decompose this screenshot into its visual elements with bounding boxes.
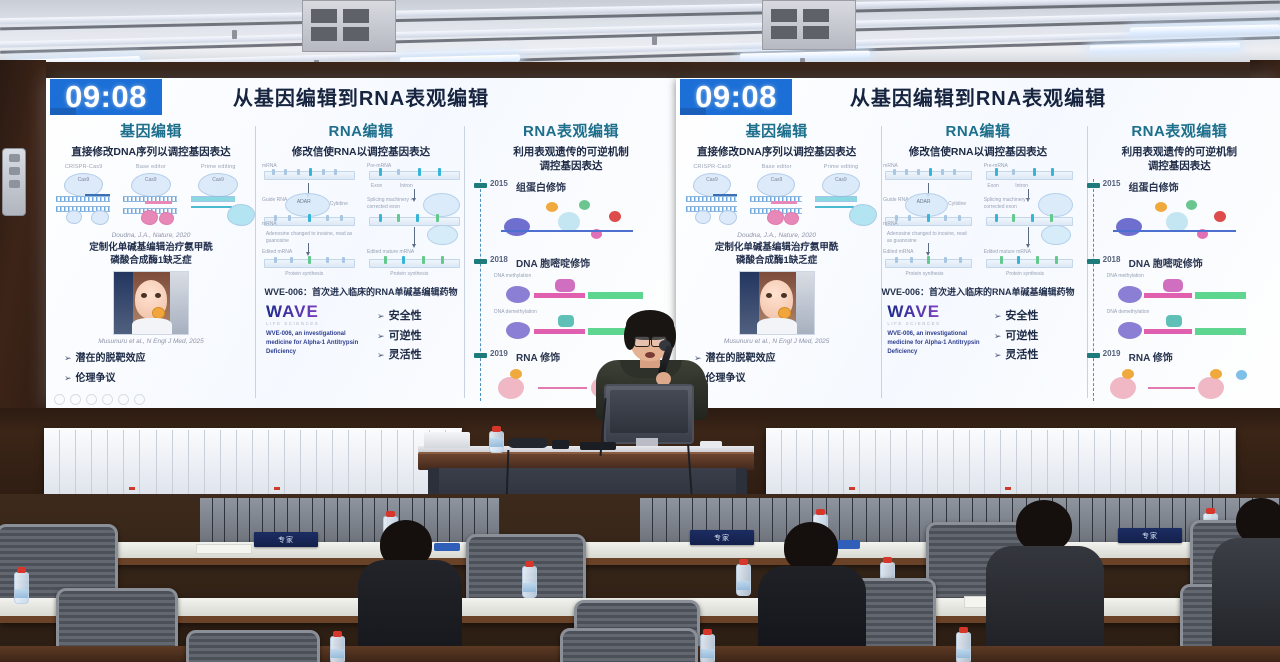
ceiling-light-strip [740, 51, 870, 61]
gene-editing-bullets-dup: 潜在的脱靶效应 伦理争议 [680, 345, 873, 389]
column-subtitle-line2: 调控基因表达 [1083, 159, 1276, 173]
sprinkler-head [232, 30, 237, 39]
diagram-crispr-cas9: CRISPR-Cas9 Cas9 [52, 164, 115, 230]
bullet-item: 可逆性 [377, 327, 422, 346]
bullet-item: 伦理争议 [694, 369, 873, 389]
diagram-base-editor: Base editor Cas9 [747, 164, 807, 230]
timeline-year: 2019 [1103, 349, 1121, 358]
case-text-line1: 定制化单碱基编辑治疗氨甲酰 [50, 242, 252, 255]
column-heading: 基因编辑 [50, 120, 252, 141]
timeline-label: DNA 胞嘧啶修饰 [1129, 255, 1203, 270]
wave-logo-block: WAVE LIFE SCIENCES WVE-006, an investiga… [260, 303, 462, 365]
slide-column-gene-editing-dup: 基因编辑 直接修改DNA序列以调控基因表达 CRISPR-Cas9 Cas9 B… [676, 120, 877, 408]
podium-remote [700, 441, 722, 448]
bullet-item: 潜在的脱靶效应 [64, 349, 252, 369]
column-subtitle-line1: 利用表观遗传的可逆机制 [1083, 145, 1276, 159]
wave-tagline: LIFE SCIENCES [887, 321, 988, 326]
diagram-exon-splicing: Pre-mRNA Exon Intron Splicing machinery … [982, 163, 1075, 281]
diagram-exon-splicing: Pre-mRNA Exon Intron Splicing machinery … [365, 163, 462, 281]
timeline-sublabel: DNA methylation [494, 273, 531, 279]
desk-paper [196, 544, 252, 554]
wall-radiator-right [766, 428, 1236, 496]
slide-column-rna-epi-editing-dup: RNA表观编辑 利用表观遗传的可逆机制 调控基因表达 2015 组蛋白修饰 [1079, 120, 1280, 408]
pen-icon[interactable] [86, 394, 97, 405]
conference-room-photo: 09:08 从基因编辑到RNA表观编辑 基因编辑 直接修改DNA序列以调控基因表… [0, 0, 1280, 662]
timeline-year: 2018 [490, 255, 508, 264]
wall-radiator-left [44, 428, 462, 496]
column-subtitle-line1: 利用表观遗传的可逆机制 [470, 145, 672, 159]
epi-timeline-dup: 2015 组蛋白修饰 2018 DNA 胞嘧啶修饰 [1083, 177, 1276, 407]
slide-column-gene-editing: 基因编辑 直接修改DNA序列以调控基因表达 CRISPR-Cas9 Cas9 B… [46, 120, 256, 408]
water-bottle [956, 632, 971, 662]
timeline-sublabel: DNA demethylation [1107, 309, 1150, 315]
case-text-line1: 定制化单碱基编辑治疗氨甲酰 [680, 242, 873, 255]
gene-editing-diagrams-dup: CRISPR-Cas9 Cas9 Base editor Cas9 [680, 164, 873, 230]
timeline-year: 2019 [490, 349, 508, 358]
nameplate-label: 专家 [278, 535, 294, 545]
slide-columns-duplicate: 基因编辑 直接修改DNA序列以调控基因表达 CRISPR-Cas9 Cas9 B… [676, 120, 1280, 408]
podium-cable-coil [508, 438, 548, 448]
column-subtitle-line2: 调控基因表达 [470, 159, 672, 173]
wall-control-panel[interactable] [2, 148, 26, 216]
wave-caption: WVE-006, an investigational medicine for… [887, 330, 988, 357]
wall-upper-band [0, 62, 1280, 78]
nameplate: 专家 [254, 532, 318, 547]
prev-slide-icon[interactable] [54, 394, 65, 405]
bullet-item: 安全性 [994, 307, 1039, 326]
back-wall-louvers [200, 498, 500, 542]
diagram-prime-editing: Prime editing Cas9 [187, 164, 250, 230]
water-bottle [330, 636, 345, 662]
timeline-sublabel: DNA demethylation [494, 309, 537, 315]
bullet-item: 可逆性 [994, 327, 1039, 346]
wave-caption: WVE-006, an investigational medicine for… [266, 330, 371, 357]
citation-musunuru: Musunuru et al., N Engl J Med, 2025 [680, 338, 873, 345]
timeline-label: 组蛋白修饰 [516, 179, 566, 194]
nameplate-label: 专家 [1142, 531, 1158, 541]
case-text-line2: 磷酸合成酶1缺乏症 [50, 255, 252, 268]
ceiling-speaker [302, 0, 396, 52]
nameplate-label: 专家 [714, 533, 730, 543]
column-subtitle: 直接修改DNA序列以调控基因表达 [680, 145, 873, 159]
next-slide-icon[interactable] [70, 394, 81, 405]
audience-chair [560, 628, 698, 662]
menu-icon[interactable] [134, 394, 145, 405]
case-text-line2: 磷酸合成酶1缺乏症 [680, 255, 873, 268]
bullet-item: 灵活性 [377, 346, 422, 365]
rna-editing-diagrams: mRNA Guide RNA ADAR Cytidine [260, 163, 462, 281]
projection-screen-left: 09:08 从基因编辑到RNA表观编辑 基因编辑 直接修改DNA序列以调控基因表… [46, 78, 676, 408]
projection-screen-right: 09:08 从基因编辑到RNA表观编辑 基因编辑 直接修改DNA序列以调控基因表… [676, 78, 1280, 408]
podium-bottle [489, 431, 504, 453]
rna-editing-diagrams-dup: mRNA Guide RNA ADAR Cytidine [881, 163, 1074, 281]
timeline-label: RNA 修饰 [1129, 349, 1173, 364]
gene-editing-bullets: 潜在的脱靶效应 伦理争议 [50, 345, 252, 389]
wave-logo: WAVE [266, 303, 371, 320]
podium-keyboard [580, 442, 616, 450]
diagram-crispr-cas9: CRISPR-Cas9 Cas9 [682, 164, 742, 230]
ceiling-speaker [762, 0, 856, 50]
diagram-adar-editing: mRNA Guide RNA ADAR Cytidine [881, 163, 974, 281]
bullet-item: 灵活性 [994, 346, 1039, 365]
column-subtitle: 直接修改DNA序列以调控基因表达 [50, 145, 252, 159]
timeline-year: 2018 [1103, 255, 1121, 264]
bullet-item: 潜在的脱靶效应 [694, 349, 873, 369]
desk-folder [434, 543, 460, 551]
timeline-label: RNA 修饰 [516, 349, 560, 364]
pointer-icon[interactable] [102, 394, 113, 405]
timeline-label: DNA 胞嘧啶修饰 [516, 255, 590, 270]
nameplate: 专家 [690, 530, 754, 545]
podium-adapter [552, 440, 569, 449]
diagram-base-editor: Base editor Cas9 [120, 164, 183, 230]
column-heading: RNA表观编辑 [470, 120, 672, 141]
timeline-sublabel: DNA methylation [1107, 273, 1144, 279]
column-heading: 基因编辑 [680, 120, 873, 141]
slide-columns: 基因编辑 直接修改DNA序列以调控基因表达 CRISPR-Cas9 Cas9 B… [46, 120, 676, 408]
wave-logo: WAVE [887, 303, 988, 320]
timeline-year: 2015 [1103, 179, 1121, 188]
column-heading: RNA编辑 [260, 120, 462, 141]
timer-value: 09:08 [695, 79, 777, 115]
rna-editing-bullets: 安全性 可逆性 灵活性 [377, 303, 422, 365]
diagram-prime-editing: Prime editing Cas9 [811, 164, 871, 230]
drug-line: WVE-006：首次进入临床的RNA单碱基编辑药物 [881, 286, 1074, 298]
presentation-control-bar[interactable] [54, 394, 145, 405]
rna-editing-bullets-dup: 安全性 可逆性 灵活性 [994, 303, 1039, 365]
column-subtitle: 修改信使RNA以调控基因表达 [881, 145, 1074, 159]
presenter-glasses-lens [634, 336, 650, 347]
podium-monitor [604, 384, 694, 444]
wave-logo-block-dup: WAVE LIFE SCIENCES WVE-006, an investiga… [881, 303, 1074, 365]
gene-editing-diagrams: CRISPR-Cas9 Cas9 Base editor Cas9 [50, 164, 252, 230]
diagram-adar-editing: mRNA Guide RNA ADAR Cytidine [260, 163, 357, 281]
column-heading: RNA编辑 [881, 120, 1074, 141]
sprinkler-head [652, 36, 657, 45]
bullet-item: 伦理争议 [64, 369, 252, 389]
water-bottle [700, 634, 715, 662]
timeline-label: 组蛋白修饰 [1129, 179, 1179, 194]
timer-value: 09:08 [65, 79, 147, 115]
drug-line: WVE-006：首次进入临床的RNA单碱基编辑药物 [260, 286, 462, 298]
podium-papers [424, 432, 470, 448]
citation-musunuru: Musunuru et al., N Engl J Med, 2025 [50, 338, 252, 345]
water-bottle [14, 572, 29, 604]
water-bottle [736, 564, 751, 596]
bullet-item: 安全性 [377, 307, 422, 326]
slide-column-rna-editing-dup: RNA编辑 修改信使RNA以调控基因表达 mRNA Guide RNA ADA [877, 120, 1078, 408]
presenter-mouth [645, 352, 655, 358]
baby-photo [113, 271, 189, 335]
column-heading: RNA表观编辑 [1083, 120, 1276, 141]
citation-doudna: Doudna, J.A., Nature, 2020 [680, 232, 873, 239]
wave-tagline: LIFE SCIENCES [266, 321, 371, 326]
water-bottle [522, 566, 537, 598]
citation-doudna: Doudna, J.A., Nature, 2020 [50, 232, 252, 239]
column-subtitle: 修改信使RNA以调控基因表达 [260, 145, 462, 159]
zoom-icon[interactable] [118, 394, 129, 405]
audience-chair [186, 630, 320, 662]
timeline-year: 2015 [490, 179, 508, 188]
slide-column-rna-editing: RNA编辑 修改信使RNA以调控基因表达 mRNA Guide RNA AD [256, 120, 466, 408]
nameplate: 专家 [1118, 528, 1182, 543]
baby-photo [739, 271, 815, 335]
